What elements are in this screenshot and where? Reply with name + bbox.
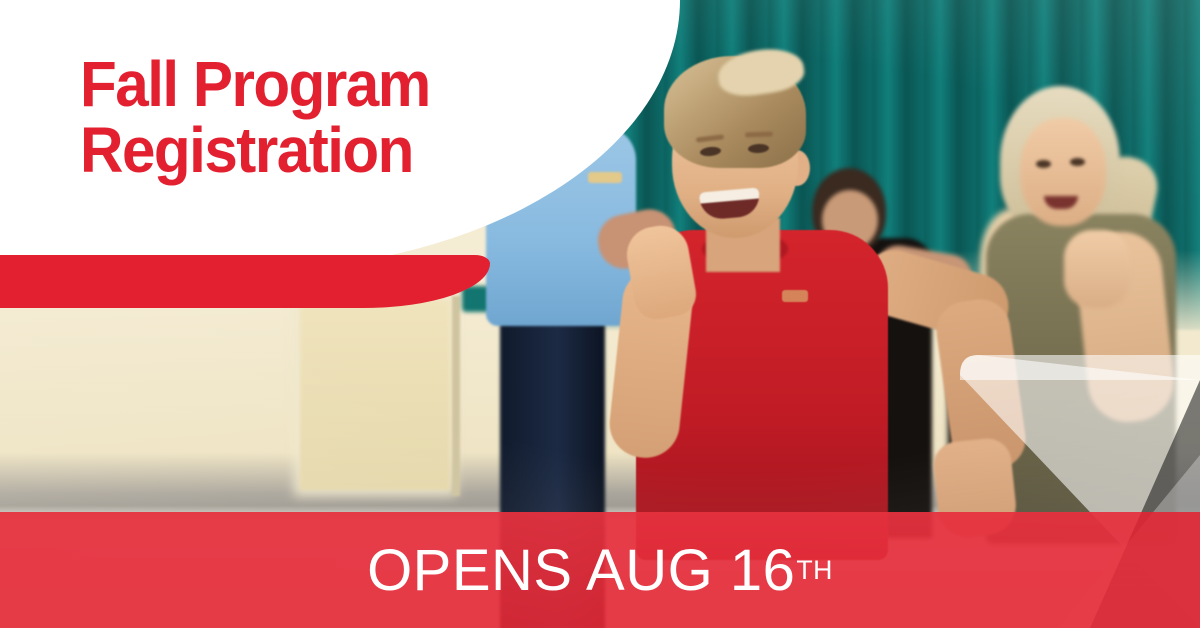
red-accent-band xyxy=(0,255,490,308)
promo-banner: Fall Program Registration OPENS AUG 16TH xyxy=(0,0,1200,628)
headline-line-2: Registration xyxy=(80,118,522,184)
announcement-ordinal-suffix: TH xyxy=(796,555,833,586)
announcement-text: OPENS AUG 16TH xyxy=(0,512,1200,628)
page-title: Fall Program Registration xyxy=(80,52,522,184)
headline-line-1: Fall Program xyxy=(80,52,522,118)
announcement-prefix: OPENS AUG 16 xyxy=(367,537,795,604)
